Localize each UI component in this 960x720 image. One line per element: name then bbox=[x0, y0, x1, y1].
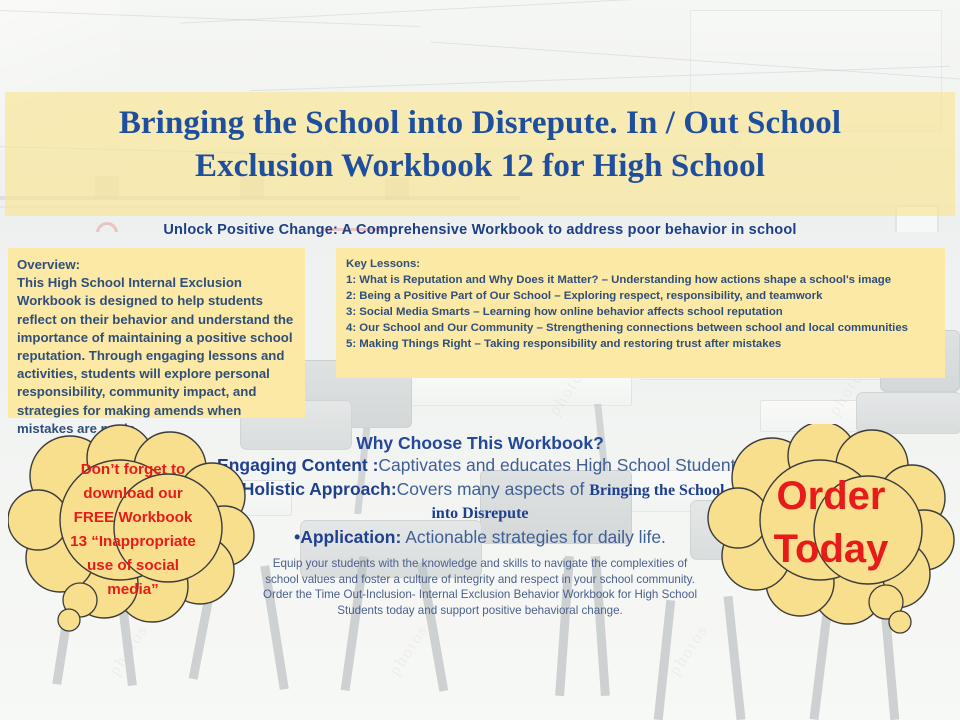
key-lessons-item: 1: What is Reputation and Why Does it Ma… bbox=[346, 272, 935, 288]
cloud-left-line-4: 13 “Inappropriate bbox=[36, 530, 230, 554]
closing-line-3: Order the Time Out-Inclusion- Internal E… bbox=[230, 587, 730, 603]
overview-body: This High School Internal Exclusion Work… bbox=[17, 274, 296, 438]
cloud-left-line-3: FREE Workbook bbox=[36, 506, 230, 530]
key-lessons-item: 5: Making Things Right – Taking responsi… bbox=[346, 336, 935, 352]
order-today-cloud[interactable]: Order Today bbox=[706, 424, 956, 640]
why-bullet-2-text: Covers many aspects of bbox=[397, 479, 585, 499]
overview-box: Overview: This High School Internal Excl… bbox=[8, 248, 305, 418]
order-today-line-1: Order bbox=[736, 470, 926, 523]
page-subtitle: Unlock Positive Change: A Comprehensive … bbox=[5, 222, 955, 238]
closing-line-1: Equip your students with the knowledge a… bbox=[230, 556, 730, 572]
page-title-line-2: Exclusion Workbook 12 for High School bbox=[5, 145, 955, 188]
poster-canvas: photos photos photos photos photos photo… bbox=[0, 0, 960, 720]
cloud-left-line-2: download our bbox=[36, 482, 230, 506]
page-title: Bringing the School into Disrepute. In /… bbox=[5, 102, 955, 188]
page-title-line-1: Bringing the School into Disrepute. In /… bbox=[5, 102, 955, 145]
promo-cloud-left-text: Don’t forget to download our FREE Workbo… bbox=[36, 458, 230, 602]
overview-heading: Overview: bbox=[17, 256, 296, 274]
why-bullet-2-emphasis-line-1: Bringing the School bbox=[589, 482, 724, 499]
key-lessons-item: 4: Our School and Our Community – Streng… bbox=[346, 320, 935, 336]
key-lessons-item: 2: Being a Positive Part of Our School –… bbox=[346, 288, 935, 304]
closing-line-2: school values and foster a culture of in… bbox=[230, 572, 730, 588]
order-today-line-2: Today bbox=[736, 523, 926, 576]
closing-line-4: Students today and support positive beha… bbox=[230, 603, 730, 619]
key-lessons-heading: Key Lessons: bbox=[346, 256, 935, 272]
key-lessons-item: 3: Social Media Smarts – Learning how on… bbox=[346, 304, 935, 320]
why-bullet-2-label: •Holistic Approach: bbox=[236, 479, 397, 499]
cloud-left-line-1: Don’t forget to bbox=[36, 458, 230, 482]
closing-paragraph: Equip your students with the knowledge a… bbox=[230, 556, 730, 618]
why-bullet-1-text: Captivates and educates High School Stud… bbox=[378, 455, 749, 475]
promo-cloud-left[interactable]: Don’t forget to download our FREE Workbo… bbox=[8, 424, 258, 640]
why-bullet-3-label: •Application: bbox=[294, 527, 401, 547]
cloud-left-line-6: media” bbox=[36, 578, 230, 602]
key-lessons-box: Key Lessons: 1: What is Reputation and W… bbox=[336, 248, 945, 378]
why-bullet-3-text: Actionable strategies for daily life. bbox=[405, 527, 666, 547]
order-today-text: Order Today bbox=[736, 470, 926, 576]
cloud-left-line-5: use of social bbox=[36, 554, 230, 578]
